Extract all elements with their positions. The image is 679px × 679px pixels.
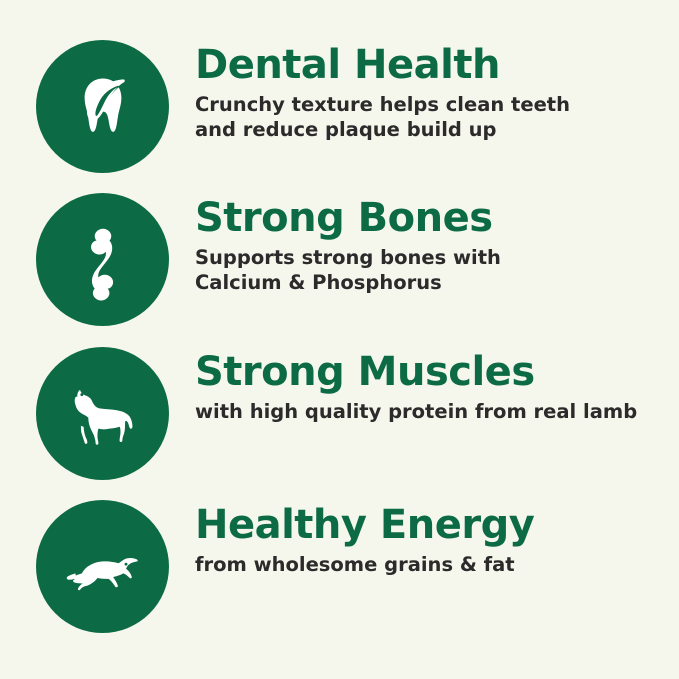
benefit-description: Crunchy texture helps clean teeth and re… [195,93,570,143]
benefit-description-line: Supports strong bones with [195,246,501,271]
benefit-text-healthy-energy: Healthy Energy from wholesome grains & f… [169,496,534,578]
benefit-text-strong-bones: Strong Bones Supports strong bones with … [169,189,501,296]
benefit-text-dental-health: Dental Health Crunchy texture helps clea… [169,36,570,143]
benefit-description: with high quality protein from real lamb [195,400,637,425]
benefit-row-dental-health: Dental Health Crunchy texture helps clea… [36,36,649,189]
benefit-title: Strong Bones [195,197,501,239]
benefit-title: Dental Health [195,44,570,86]
benefits-panel: Dental Health Crunchy texture helps clea… [0,0,679,679]
benefit-description-line: Crunchy texture helps clean teeth [195,93,570,118]
benefit-row-strong-bones: Strong Bones Supports strong bones with … [36,189,649,342]
benefit-description-line: and reduce plaque build up [195,118,570,143]
benefit-description: from wholesome grains & fat [195,553,534,578]
standing-dog-icon [36,347,169,480]
leaping-dog-icon [36,500,169,633]
bone-icon [36,193,169,326]
benefit-row-strong-muscles: Strong Muscles with high quality protein… [36,343,649,496]
benefit-description-line: with high quality protein from real lamb [195,400,637,425]
benefit-text-strong-muscles: Strong Muscles with high quality protein… [169,343,637,425]
benefit-description-line: from wholesome grains & fat [195,553,534,578]
benefit-description: Supports strong bones with Calcium & Pho… [195,246,501,296]
benefit-title: Strong Muscles [195,351,637,393]
benefit-row-healthy-energy: Healthy Energy from wholesome grains & f… [36,496,649,649]
benefit-title: Healthy Energy [195,504,534,546]
benefit-description-line: Calcium & Phosphorus [195,271,501,296]
tooth-leaf-icon [36,40,169,173]
